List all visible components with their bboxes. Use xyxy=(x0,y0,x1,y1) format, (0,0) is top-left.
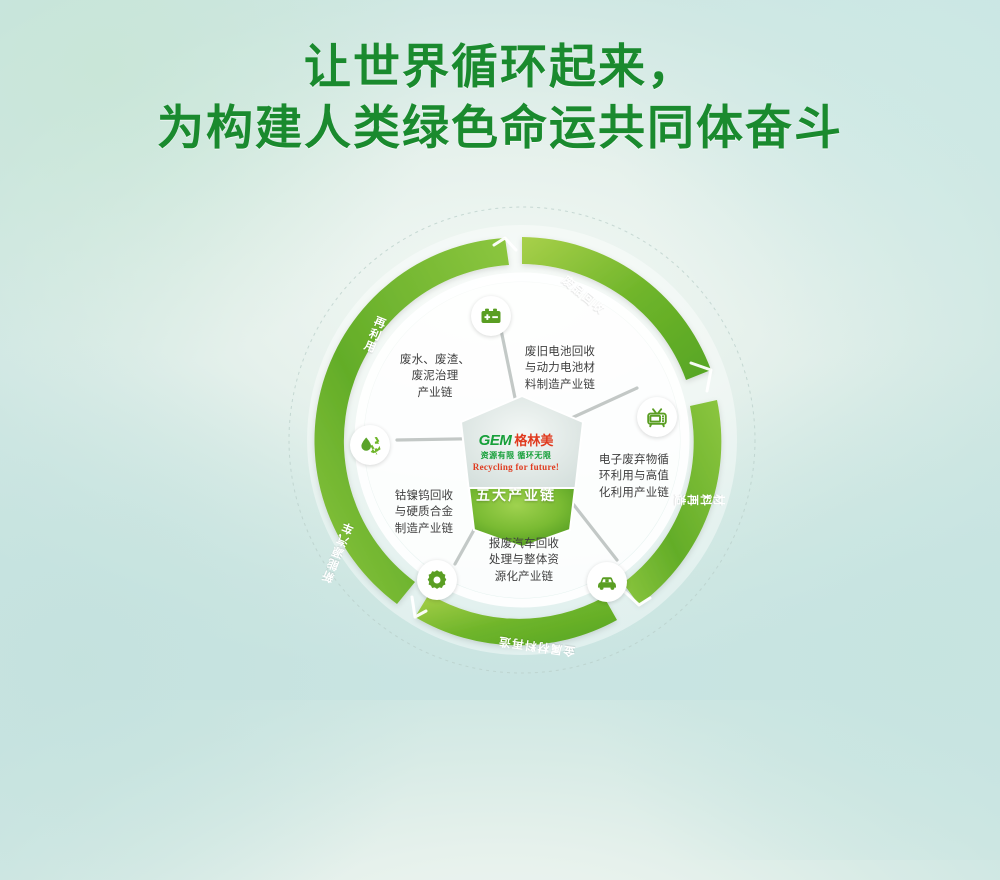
page-headline: 让世界循环起来， 为构建人类绿色命运共同体奋斗 xyxy=(0,36,1000,158)
car-icon-badge[interactable] xyxy=(587,562,627,602)
gear-icon xyxy=(425,568,449,592)
car-icon xyxy=(595,570,619,594)
chain-label-vehicle: 报废汽车回收 处理与整体资 源化产业链 xyxy=(470,536,578,585)
tv-icon-badge[interactable] xyxy=(637,397,677,437)
tv-icon xyxy=(645,405,669,429)
chain-label-waste-water: 废水、废渣、 废泥治理 产业链 xyxy=(380,352,490,401)
headline-line-2: 为构建人类绿色命运共同体奋斗 xyxy=(0,97,1000,158)
chain-label-alloy: 钴镍钨回收 与硬质合金 制造产业链 xyxy=(374,488,474,537)
logo-mark-chinese: 格林美 xyxy=(514,433,553,448)
battery-icon-badge[interactable] xyxy=(471,296,511,336)
logo-wordmark: GEM格林美 xyxy=(462,433,570,448)
logo-slogan-english: Recycling for future! xyxy=(462,462,570,472)
logo-slogan-chinese: 资源有限 循环无限 xyxy=(462,450,570,461)
battery-icon xyxy=(479,304,503,328)
water-recycle-icon-badge[interactable] xyxy=(350,425,390,465)
chain-label-battery: 废旧电池回收 与动力电池材 料制造产业链 xyxy=(500,344,620,393)
ring-label-material-remake: 材料再造 xyxy=(673,491,725,507)
headline-line-1: 让世界循环起来， xyxy=(0,36,1000,97)
gear-icon-badge[interactable] xyxy=(417,560,457,600)
core-title: 五大产业链 xyxy=(462,485,570,505)
chain-label-e-waste: 电子废弃物循 环利用与高值 化利用产业链 xyxy=(586,452,682,501)
logo-mark-latin: GEM xyxy=(479,432,512,449)
water-recycle-icon xyxy=(357,432,383,458)
